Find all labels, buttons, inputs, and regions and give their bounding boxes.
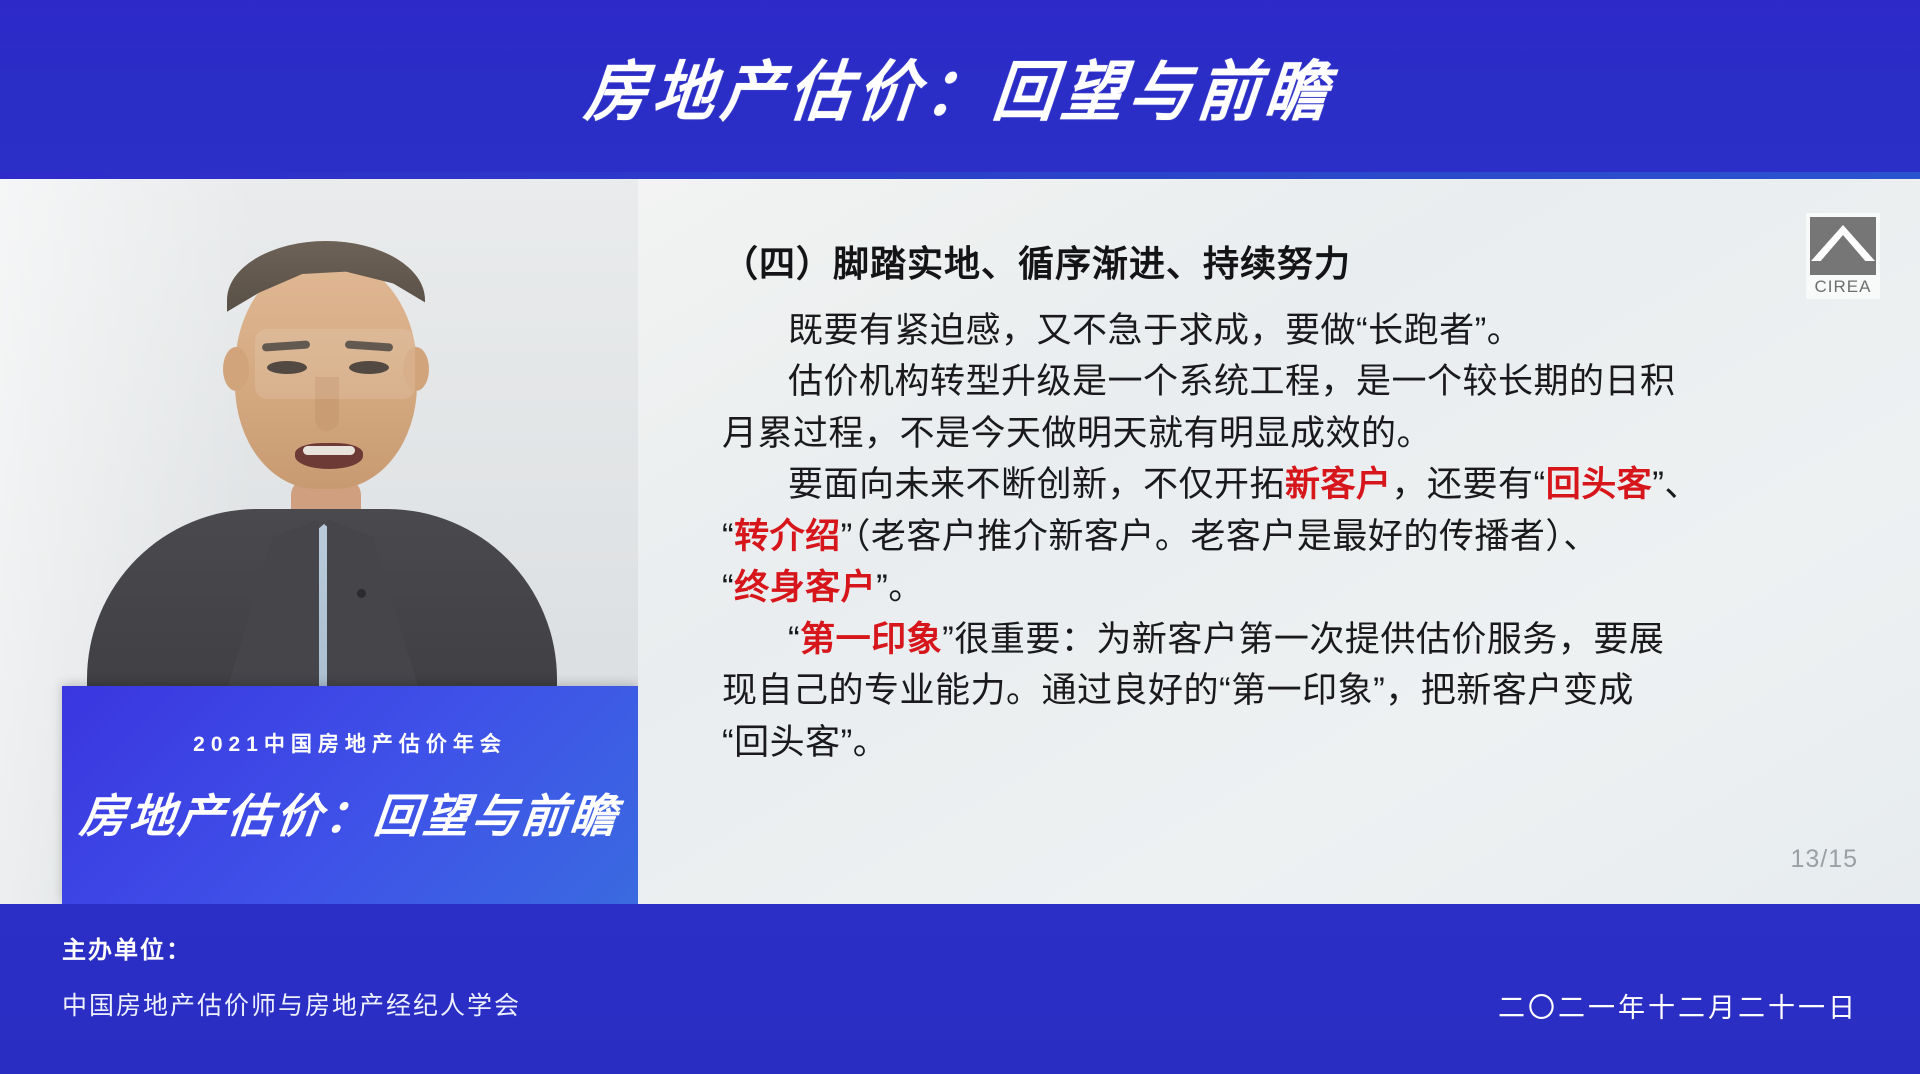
highlighted-term: 第一印象 (800, 620, 942, 659)
slide-pane: CIREA （四）脚踏实地、循序渐进、持续努力 既要有紧迫感，又不急于求成，要做… (638, 179, 1920, 904)
slide-text-run: ”很重要：为新客户第一次提供估价服务，要展 (942, 620, 1664, 659)
slide-line: “转介绍”（老客户推介新客户。老客户是最好的传播者）、 (722, 511, 1850, 562)
organizer-label: 主办单位： (62, 930, 192, 965)
slide-line: 月累过程，不是今天做明天就有明显成效的。 (722, 408, 1850, 459)
slide-line: “回头客”。 (722, 717, 1850, 768)
slide-text-run: 现自己的专业能力。通过良好的“第一印象”，把新客户变成 (722, 671, 1634, 710)
slide-page-number: 13/15 (1790, 845, 1858, 874)
slide-text-run: “回头客”。 (722, 723, 888, 762)
slide-text-run: 估价机构转型升级是一个系统工程，是一个较长期的日积 (788, 362, 1676, 401)
slide-text-run: ，还要有“ (1392, 465, 1546, 504)
slide-text-run: ”（老客户推介新客户。老客户是最好的传播者）、 (841, 517, 1599, 556)
presentation-screen: 房地产估价：回望与前瞻 (0, 0, 1920, 1074)
slide-line: 要面向未来不断创新，不仅开拓新客户，还要有“回头客”、 (722, 459, 1850, 510)
stage-area: 2021中国房地产估价年会 房地产估价：回望与前瞻 CIREA （四）脚踏实地、… (0, 172, 1920, 904)
event-name-label: 2021中国房地产估价年会 (62, 728, 638, 758)
slide-text-run: “ (722, 517, 734, 556)
presentation-title: 房地产估价：回望与前瞻 (581, 38, 1339, 133)
speaker-glasses-glint (255, 329, 415, 399)
slide-paragraph-list: 既要有紧迫感，又不急于求成，要做“长跑者”。估价机构转型升级是一个系统工程，是一… (722, 305, 1850, 768)
speaker-ear-left (223, 347, 249, 391)
speaker-video-pane: 2021中国房地产估价年会 房地产估价：回望与前瞻 (0, 179, 638, 904)
lower-third-banner: 2021中国房地产估价年会 房地产估价：回望与前瞻 (62, 686, 638, 904)
slide-text-run: “ (722, 568, 734, 607)
highlighted-term: 终身客户 (734, 568, 876, 607)
slide-line: 现自己的专业能力。通过良好的“第一印象”，把新客户变成 (722, 665, 1850, 716)
slide-line: “终身客户”。 (722, 562, 1850, 613)
bottom-info-bar: 主办单位： 中国房地产估价师与房地产经纪人学会 二〇二一年十二月二十一日 (0, 904, 1920, 1074)
slide-text-run: 要面向未来不断创新，不仅开拓 (788, 465, 1285, 504)
lapel-microphone-icon (357, 589, 366, 598)
speaker-mouth (295, 443, 363, 469)
slide-heading: （四）脚踏实地、循序渐进、持续努力 (722, 235, 1850, 287)
top-title-banner: 房地产估价：回望与前瞻 (0, 0, 1920, 172)
slide-text-run: 月累过程，不是今天做明天就有明显成效的。 (722, 414, 1432, 453)
slide-line: 估价机构转型升级是一个系统工程，是一个较长期的日积 (722, 356, 1850, 407)
slide-text-run: 既要有紧迫感，又不急于求成，要做“长跑者”。 (788, 311, 1522, 350)
presentation-date: 二〇二一年十二月二十一日 (1498, 986, 1858, 1025)
highlighted-term: 转介绍 (734, 517, 841, 556)
slide-content: （四）脚踏实地、循序渐进、持续努力 既要有紧迫感，又不急于求成，要做“长跑者”。… (722, 235, 1850, 768)
slide-text-run: “ (788, 620, 800, 659)
slide-text-run: ”。 (876, 568, 924, 607)
slide-line: 既要有紧迫感，又不急于求成，要做“长跑者”。 (722, 305, 1850, 356)
highlighted-term: 回头客 (1546, 465, 1653, 504)
highlighted-term: 新客户 (1285, 465, 1392, 504)
slide-text-run: ”、 (1652, 465, 1700, 504)
organizer-name: 中国房地产估价师与房地产经纪人学会 (62, 986, 521, 1022)
talk-title-label: 房地产估价：回望与前瞻 (62, 780, 638, 846)
slide-line: “第一印象”很重要：为新客户第一次提供估价服务，要展 (722, 614, 1850, 665)
